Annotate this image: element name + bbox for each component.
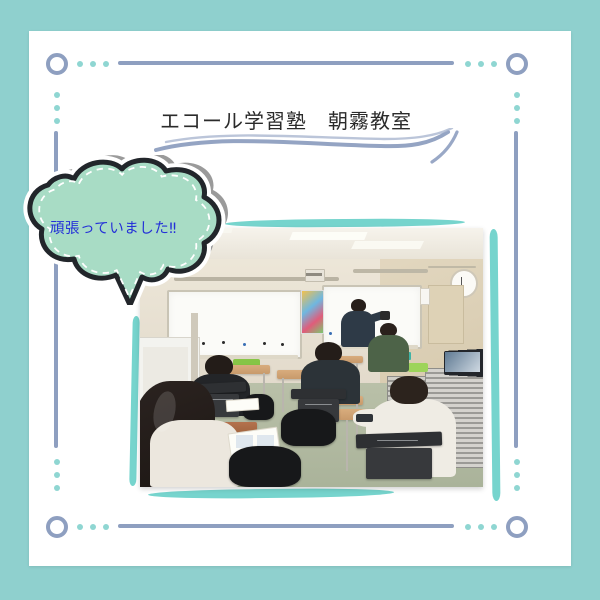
frame-dot-icon [54, 92, 60, 98]
frame-dot-icon [514, 105, 520, 111]
frame-dot-icon [103, 524, 109, 530]
frame-dot-icon [478, 524, 484, 530]
frame-dot-icon [90, 61, 96, 67]
poster-canvas: エコール学習塾 朝霧教室 [0, 0, 600, 600]
frame-dot-icon [54, 118, 60, 124]
corner-ring-bottom-right-icon [506, 516, 528, 538]
backpack [229, 446, 301, 487]
frame-line-right [514, 131, 518, 448]
student-figure [390, 376, 428, 404]
frame-line-bottom [118, 524, 454, 528]
frame-dot-icon [465, 524, 471, 530]
tripod-stand [421, 342, 442, 363]
frame-line-top [118, 61, 454, 65]
frame-dot-icon [54, 472, 60, 478]
frame-dot-icon [514, 92, 520, 98]
backpack [281, 409, 336, 445]
callout-text: 頑張っていました‼ [50, 217, 230, 238]
frame-dot-icon [54, 459, 60, 465]
corner-ring-top-right-icon [506, 53, 528, 75]
speech-bubble: 頑張っていました‼ [12, 155, 242, 305]
corner-ring-top-left-icon [46, 53, 68, 75]
frame-dot-icon [54, 105, 60, 111]
frame-dot-icon [514, 485, 520, 491]
frame-dot-icon [77, 61, 83, 67]
frame-dot-icon [514, 459, 520, 465]
wall-poster [301, 290, 324, 333]
frame-dot-icon [491, 61, 497, 67]
frame-dot-icon [54, 485, 60, 491]
frame-dot-icon [465, 61, 471, 67]
frame-dot-icon [478, 61, 484, 67]
frame-dot-icon [514, 118, 520, 124]
frame-dot-icon [491, 524, 497, 530]
frame-dot-icon [90, 524, 96, 530]
corner-ring-bottom-left-icon [46, 516, 68, 538]
frame-dot-icon [514, 472, 520, 478]
frame-dot-icon [77, 524, 83, 530]
frame-dot-icon [103, 61, 109, 67]
